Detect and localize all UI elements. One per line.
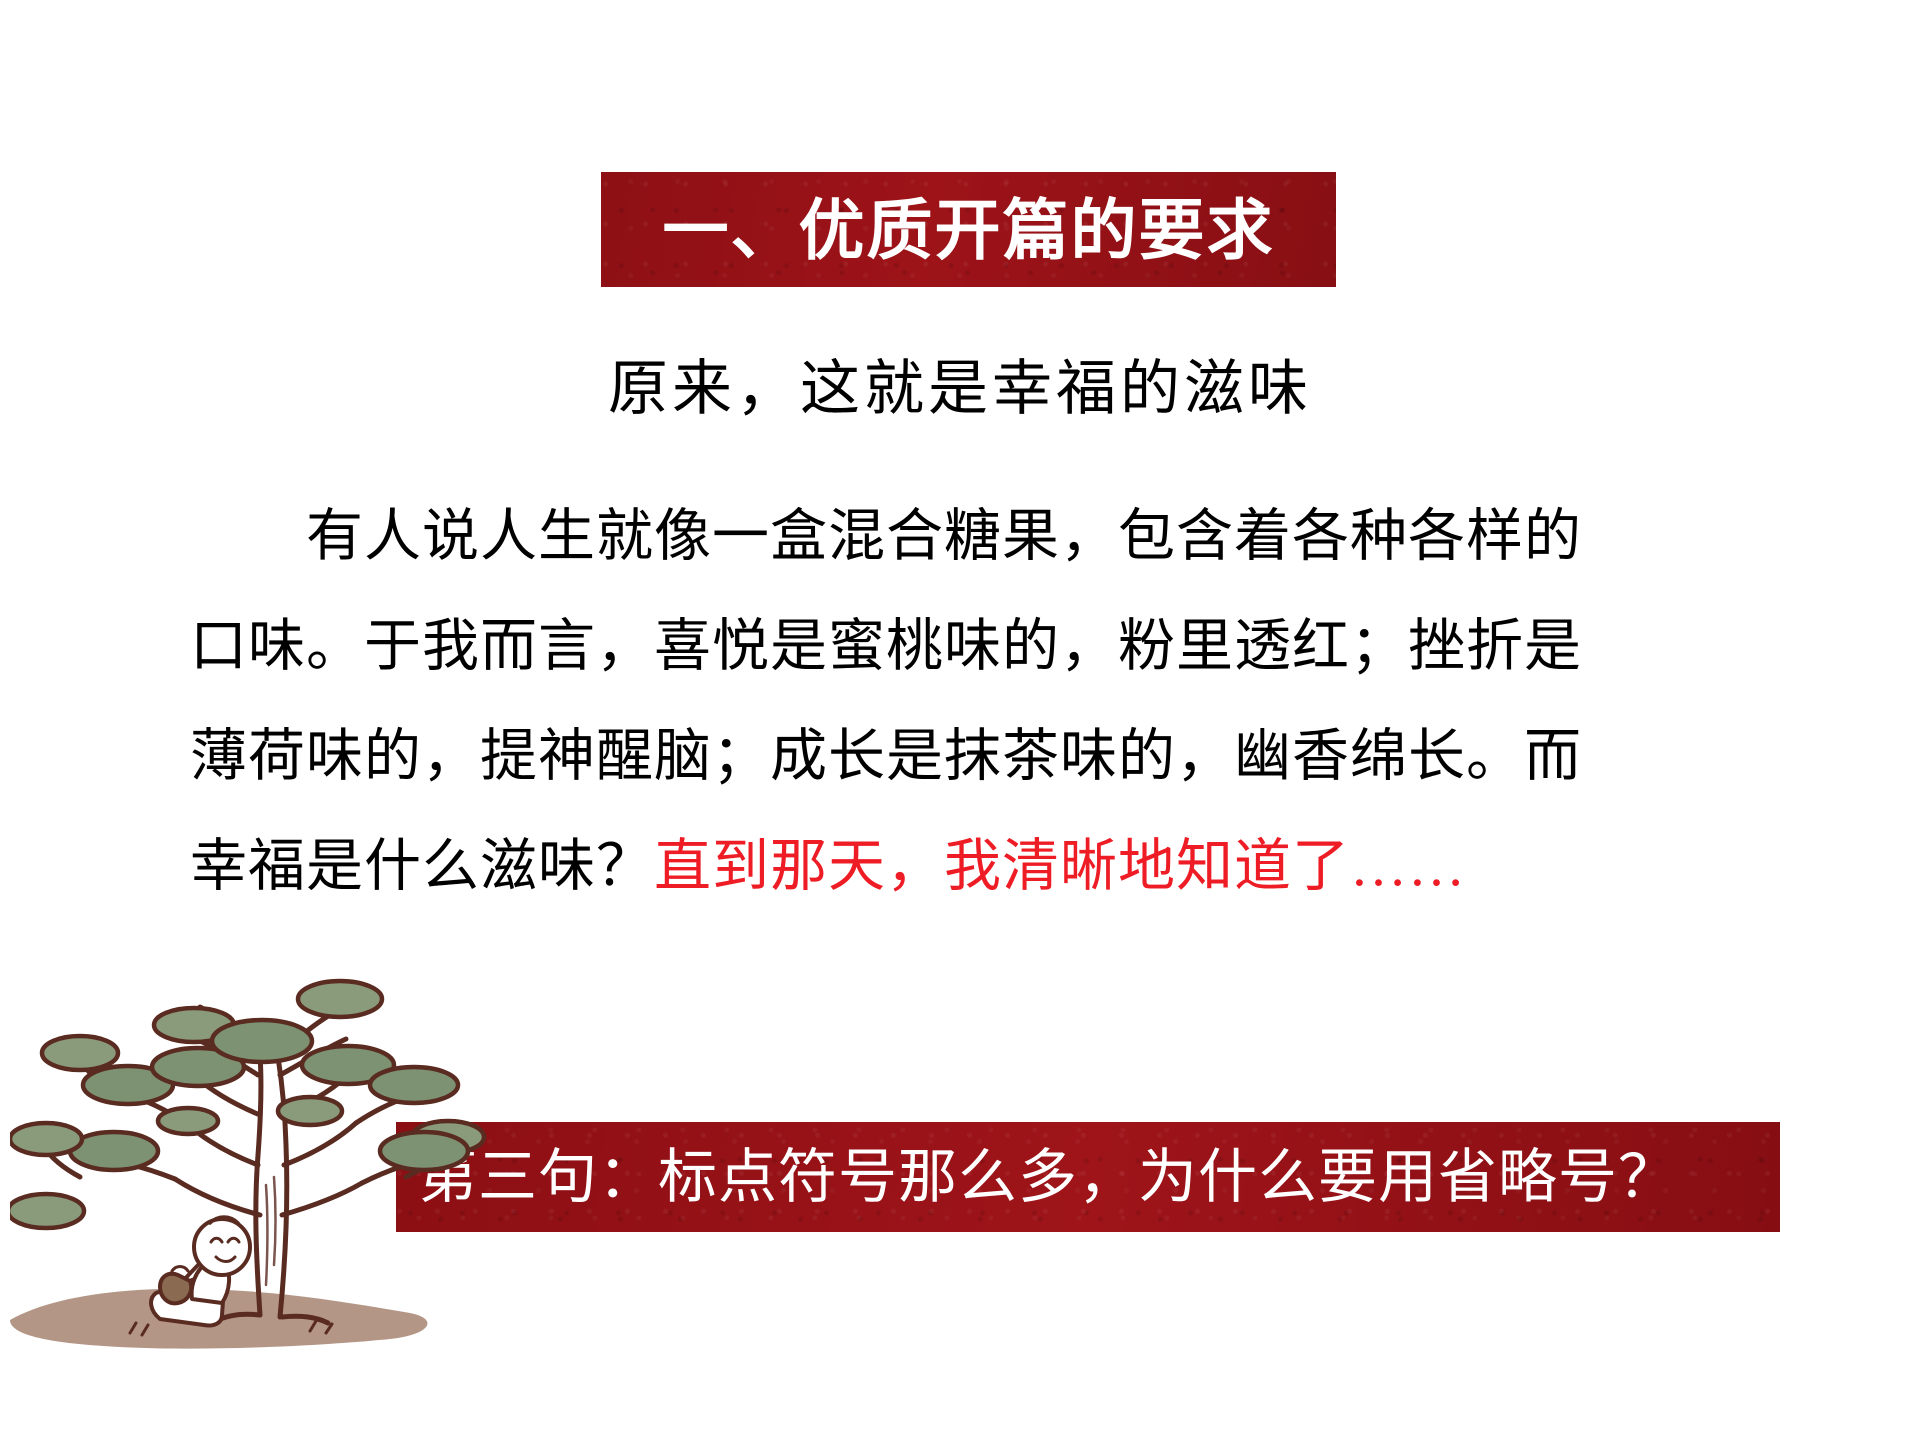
body-line-1: 有人说人生就像一盒混合糖果，包含着各种各样的 (190, 482, 1760, 592)
body-line-4-red-emphasis: 直到那天，我清晰地知道了…… (654, 835, 1466, 898)
body-paragraph: 有人说人生就像一盒混合糖果，包含着各种各样的 口味。于我而言，喜悦是蜜桃味的，粉… (190, 482, 1760, 922)
title-banner: 一、优质开篇的要求 (601, 172, 1336, 287)
subheading-title: 原来，这就是幸福的滋味 (0, 355, 1920, 424)
bottom-banner: 第三句：标点符号那么多，为什么要用省略号？ (396, 1122, 1780, 1232)
tree-illustration (10, 915, 530, 1385)
body-line-3: 薄荷味的，提神醒脑；成长是抹茶味的，幽香绵长。而 (190, 702, 1760, 812)
bottom-banner-label: 第三句：标点符号那么多，为什么要用省略号？ (418, 1148, 1678, 1207)
body-line-4: 幸福是什么滋味？直到那天，我清晰地知道了…… (190, 812, 1760, 922)
tree-foliage (10, 981, 484, 1228)
title-banner-label: 一、优质开篇的要求 (663, 197, 1275, 263)
body-line-4-black: 幸福是什么滋味？ (190, 835, 654, 898)
body-line-2: 口味。于我而言，喜悦是蜜桃味的，粉里透红；挫折是 (190, 592, 1760, 702)
slide-canvas: 一、优质开篇的要求 原来，这就是幸福的滋味 有人说人生就像一盒混合糖果，包含着各… (0, 0, 1920, 1440)
